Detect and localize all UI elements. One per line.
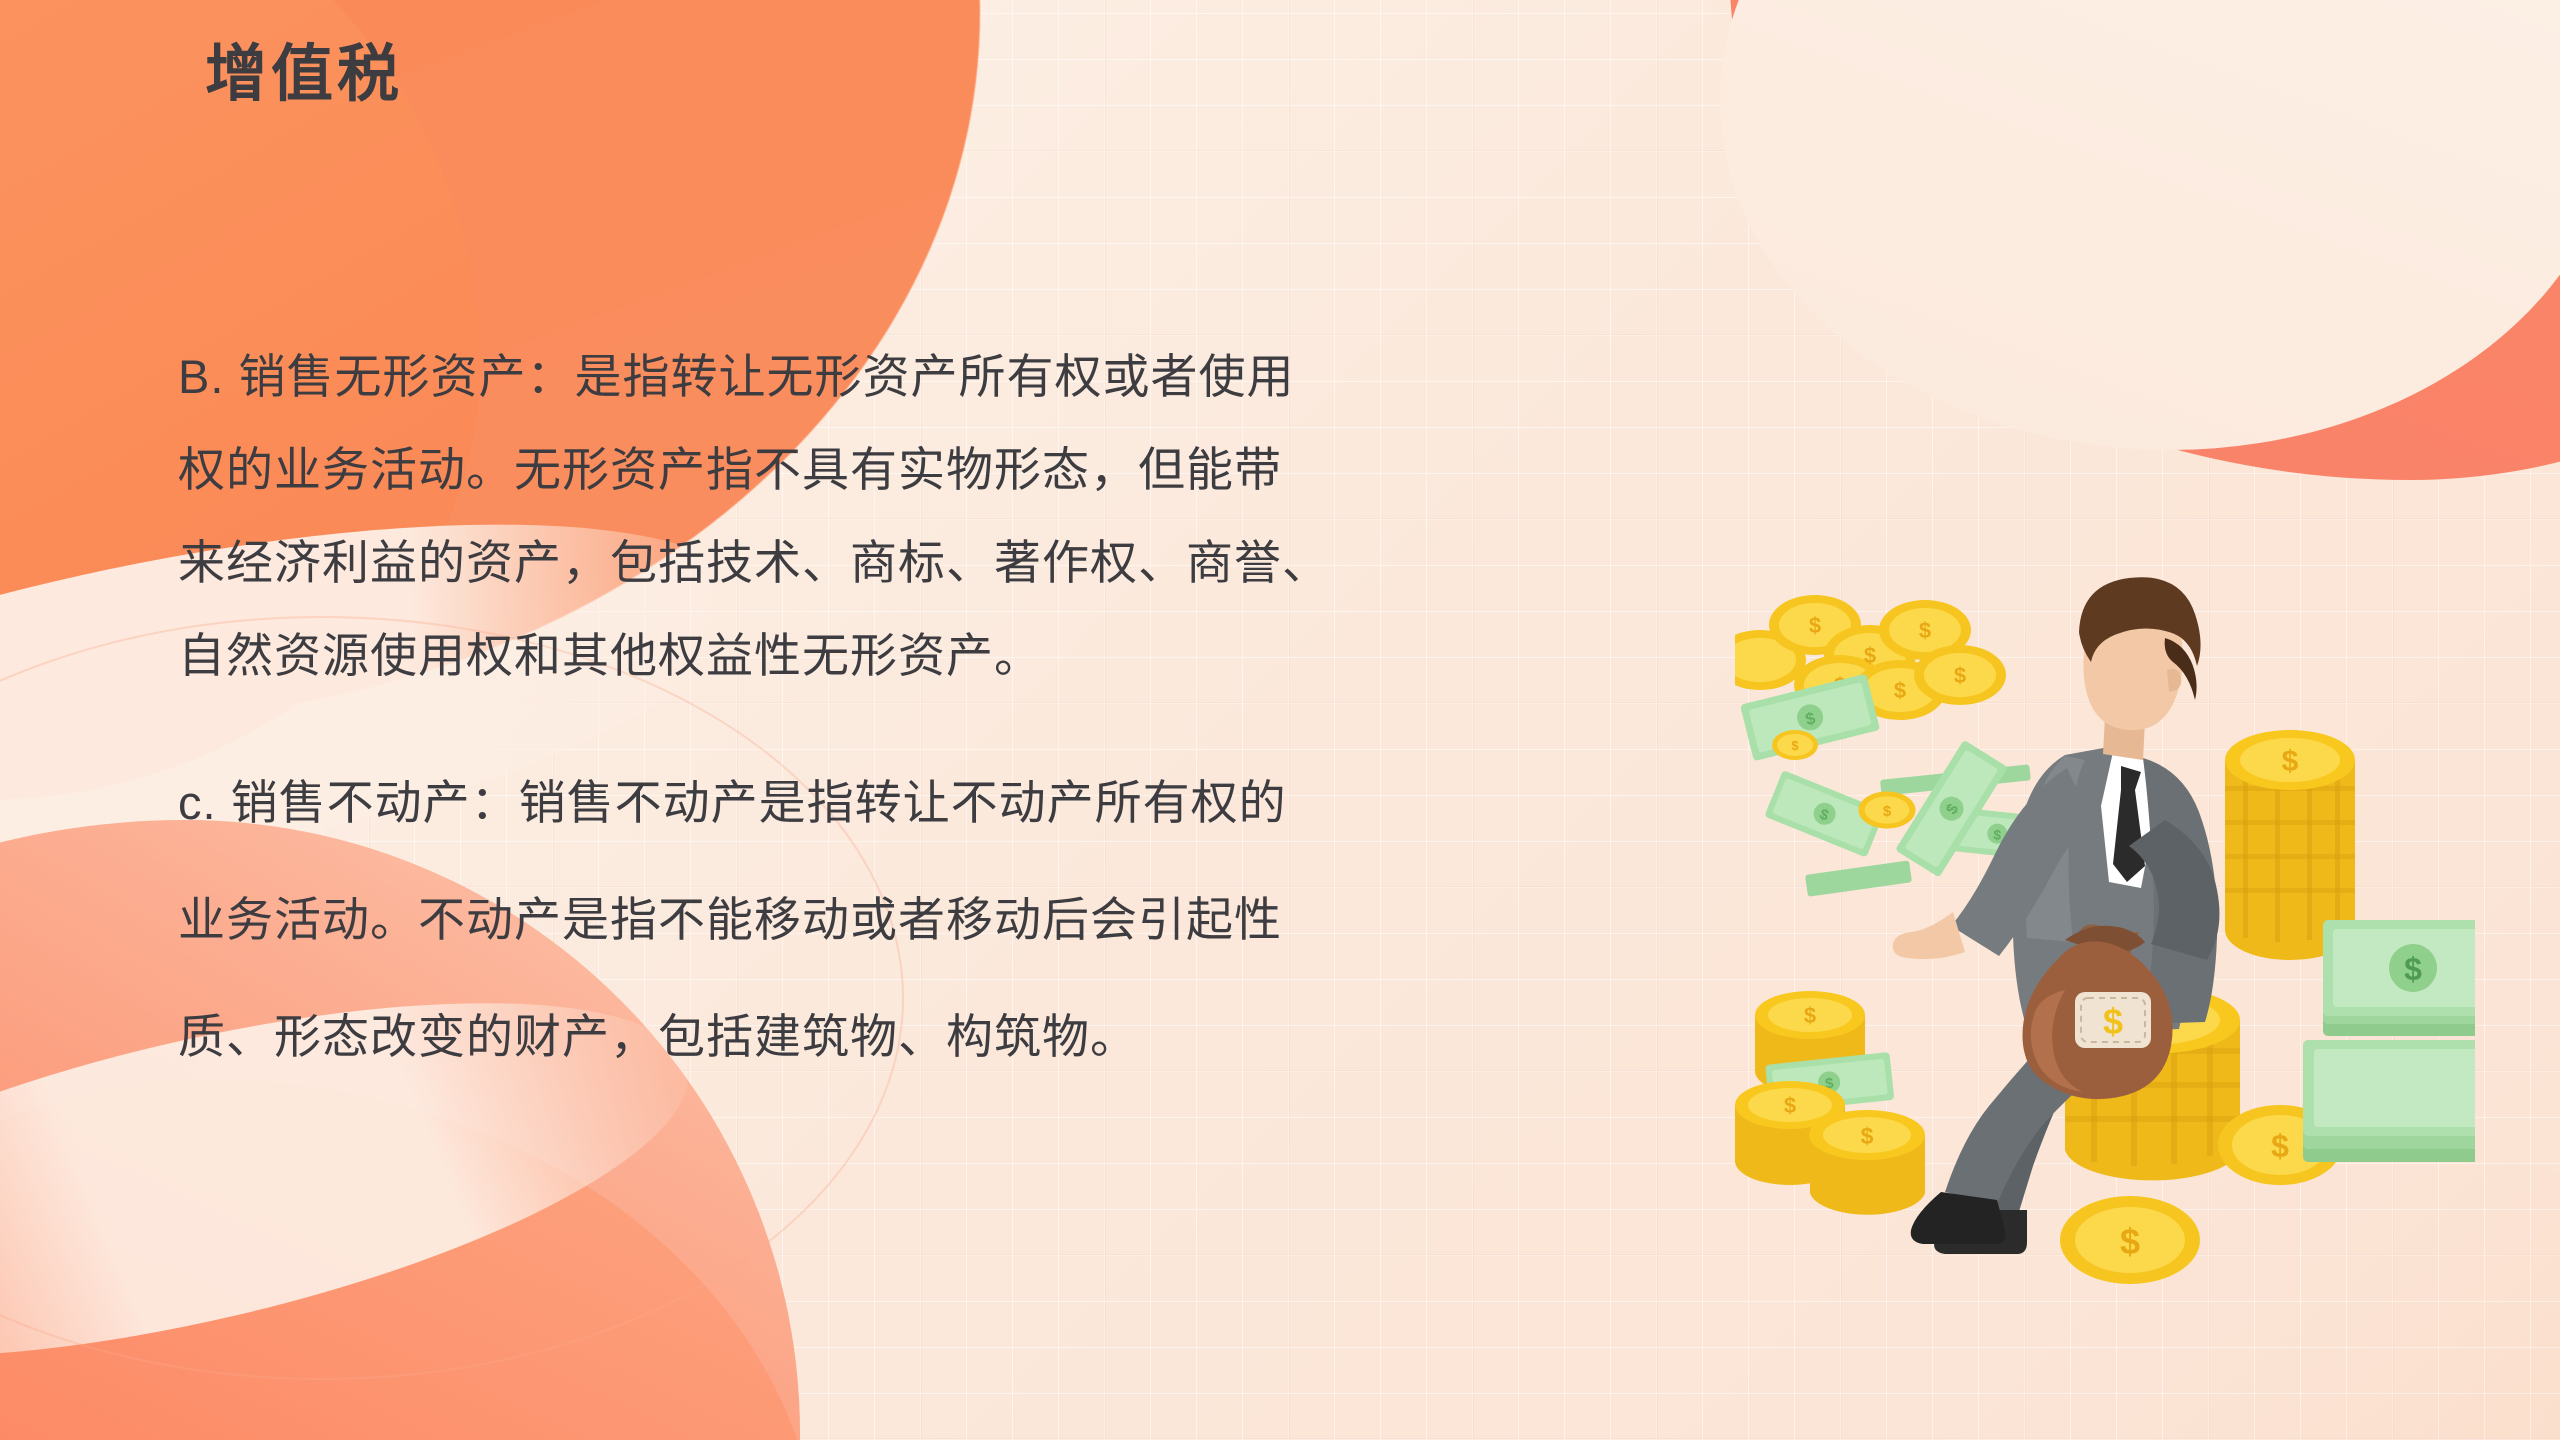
paragraph-b-line-1: B. 销售无形资产：是指转让无形资产所有权或者使用 <box>178 330 1738 423</box>
body-text-column: B. 销售无形资产：是指转让无形资产所有权或者使用 权的业务活动。无形资产指不具… <box>178 330 1738 1095</box>
svg-text:$: $ <box>1809 613 1821 638</box>
paragraph-b-line-3: 来经济利益的资产，包括技术、商标、著作权、商誉、 <box>178 516 1738 609</box>
paragraph-c-line-3: 质、形态改变的财产，包括建筑物、构筑物。 <box>178 978 1738 1095</box>
svg-text:$: $ <box>2282 745 2299 778</box>
page-title: 增值税 <box>205 36 403 114</box>
svg-text:$: $ <box>1954 663 1966 688</box>
svg-text:$: $ <box>1861 1123 1874 1149</box>
illustration-businessman-on-coins: $$$ $$$ $ $ <box>1735 520 2475 1310</box>
svg-text:$: $ <box>2271 1128 2289 1164</box>
paragraph-c-line-2: 业务活动。不动产是指不能移动或者移动后会引起性 <box>178 861 1738 978</box>
svg-text:$: $ <box>1894 678 1906 703</box>
svg-text:$: $ <box>1791 738 1799 753</box>
svg-text:$: $ <box>1883 803 1892 820</box>
svg-text:$: $ <box>1919 618 1931 643</box>
svg-text:$: $ <box>2120 1221 2140 1262</box>
slide-canvas: 增值税 B. 销售无形资产：是指转让无形资产所有权或者使用 权的业务活动。无形资… <box>0 0 2560 1440</box>
paragraph-c-line-1: c. 销售不动产：销售不动产是指转让不动产所有权的 <box>178 744 1738 861</box>
svg-text:$: $ <box>2404 951 2422 987</box>
paragraph-b-line-4: 自然资源使用权和其他权益性无形资产。 <box>178 609 1738 702</box>
banknote-stack-right: $ <box>2303 920 2475 1162</box>
paragraph-c: c. 销售不动产：销售不动产是指转让不动产所有权的 业务活动。不动产是指不能移动… <box>178 744 1738 1095</box>
svg-text:$: $ <box>1784 1093 1796 1118</box>
paragraph-b-line-2: 权的业务活动。无形资产指不具有实物形态，但能带 <box>178 423 1738 516</box>
paragraph-b: B. 销售无形资产：是指转让无形资产所有权或者使用 权的业务活动。无形资产指不具… <box>178 330 1738 702</box>
svg-text:$: $ <box>2103 1001 2123 1042</box>
coin-pile-bottom-left: $ $ $ $ <box>1735 991 1925 1215</box>
coin-bottom-centre: $ <box>2060 1196 2200 1284</box>
svg-text:$: $ <box>1864 643 1876 668</box>
svg-text:$: $ <box>1804 1003 1816 1028</box>
